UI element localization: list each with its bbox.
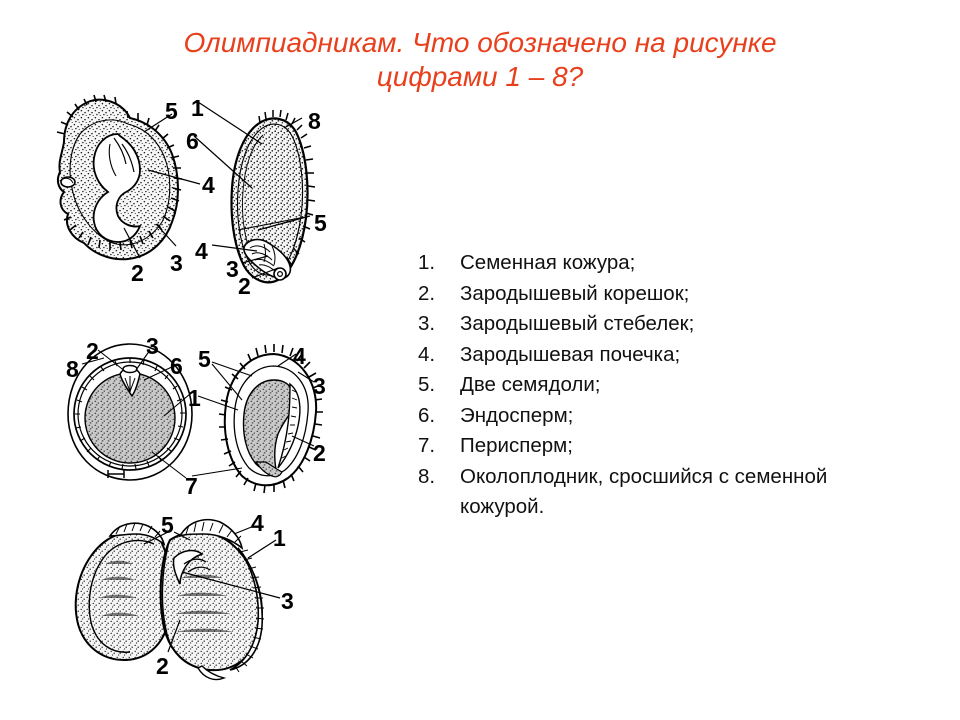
list-item-number: 8. xyxy=(418,462,460,493)
list-item: 4. Зародышевая почечка; xyxy=(418,340,938,371)
list-item-number: 3. xyxy=(418,309,460,340)
list-item-label: Зародышевый корешок; xyxy=(460,279,938,310)
figure-label: 2 xyxy=(313,442,326,465)
figure-label: 5 xyxy=(165,100,178,123)
figure-label: 4 xyxy=(195,240,208,263)
bean-seed-svg xyxy=(52,88,382,303)
list-item-label: Семенная кожура; xyxy=(460,248,938,279)
list-item-label: Две семядоли; xyxy=(460,370,938,401)
figure-split-cotyledons: 5 4 1 3 2 xyxy=(62,500,362,695)
figure-label: 1 xyxy=(188,387,201,410)
list-item-number: 2. xyxy=(418,279,460,310)
figure-label: 2 xyxy=(131,262,144,285)
figure-label: 8 xyxy=(308,110,321,133)
endosperm-svg xyxy=(52,328,382,513)
figure-endosperm-perisperm-sections: 8 2 3 6 5 4 3 1 2 7 xyxy=(52,328,382,513)
cotyledon-right xyxy=(161,520,264,680)
list-item: 3. Зародышевый стебелек; xyxy=(418,309,938,340)
answer-key-list: 1. Семенная кожура; 2. Зародышевый кореш… xyxy=(418,248,938,523)
list-item: 6. Эндосперм; xyxy=(418,401,938,432)
figure-bean-seed-sections: 5 1 6 4 3 2 8 5 4 3 2 xyxy=(52,88,382,303)
figure-label: 5 xyxy=(314,212,327,235)
figure-label: 6 xyxy=(170,355,183,378)
figure-label: 3 xyxy=(226,258,239,281)
list-item: 5. Две семядоли; xyxy=(418,370,938,401)
figure-label: 3 xyxy=(281,590,294,613)
list-item-label: Околоплодник, сросшийся с семенной xyxy=(460,462,938,493)
list-item-number: 1. xyxy=(418,248,460,279)
figure-label: 2 xyxy=(86,340,99,363)
figure-label: 3 xyxy=(313,375,326,398)
figure-label: 4 xyxy=(202,174,215,197)
slide-canvas: Олимпиадникам. Что обозначено на рисунке… xyxy=(0,0,960,720)
figure-label: 3 xyxy=(146,335,159,358)
list-item: 8. Околоплодник, сросшийся с семенной xyxy=(418,462,938,493)
list-item-label: Перисперм; xyxy=(460,431,938,462)
figure-label: 5 xyxy=(198,348,211,371)
page-title: Олимпиадникам. Что обозначено на рисунке… xyxy=(120,26,840,94)
list-item: 2. Зародышевый корешок; xyxy=(418,279,938,310)
bean-left-half xyxy=(57,95,200,259)
list-item-label: Зародышевая почечка; xyxy=(460,340,938,371)
figure-label: 1 xyxy=(191,97,204,120)
figure-label: 8 xyxy=(66,358,79,381)
figure-label: 5 xyxy=(161,514,174,537)
figure-label: 4 xyxy=(293,345,306,368)
figure-label: 3 xyxy=(170,252,183,275)
figure-label: 6 xyxy=(186,130,199,153)
list-item-number: 5. xyxy=(418,370,460,401)
list-item-continuation: кожурой. xyxy=(418,492,938,523)
figure-label: 2 xyxy=(156,655,169,678)
list-item: 7. Перисперм; xyxy=(418,431,938,462)
figure-label: 7 xyxy=(185,475,198,498)
list-item-number: 7. xyxy=(418,431,460,462)
list-item-number: 6. xyxy=(418,401,460,432)
list-item-number: 4. xyxy=(418,340,460,371)
list-item: 1. Семенная кожура; xyxy=(418,248,938,279)
list-item-label: Зародышевый стебелек; xyxy=(460,309,938,340)
figure-label: 2 xyxy=(238,275,251,298)
list-item-label: Эндосперм; xyxy=(460,401,938,432)
cotyledon-left xyxy=(76,523,171,660)
figure-label: 4 xyxy=(251,512,264,535)
figure-label: 1 xyxy=(273,527,286,550)
split-cotyledons-svg xyxy=(62,500,362,695)
